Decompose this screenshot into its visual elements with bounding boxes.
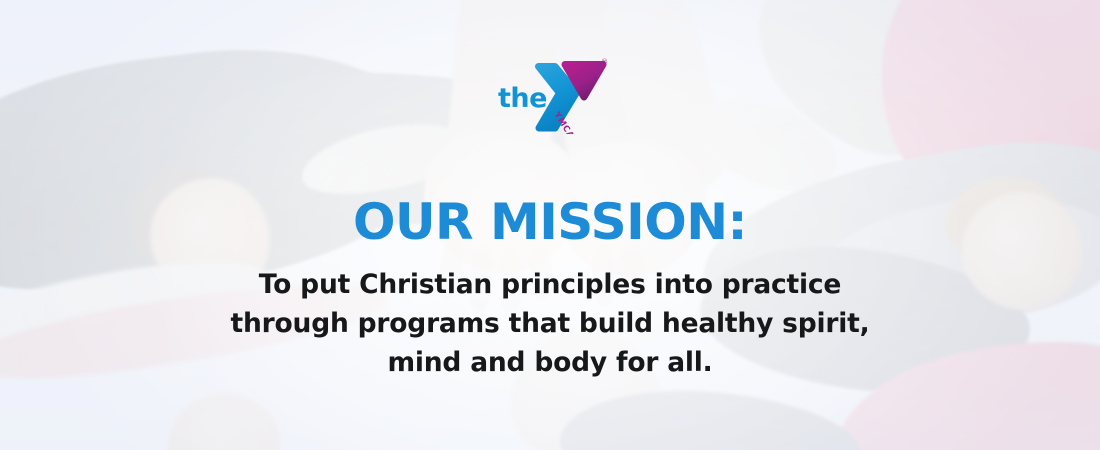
mission-body: To put Christian principles into practic…: [0, 265, 1100, 383]
logo-wordmark-the: the: [498, 83, 547, 114]
the-y-ymca-logo: the YMCA ®: [497, 52, 609, 134]
mission-body-line-1: To put Christian principles into practic…: [0, 265, 1100, 304]
mission-body-line-2: through programs that build healthy spir…: [0, 304, 1100, 343]
mission-body-line-3: mind and body for all.: [0, 343, 1100, 382]
mission-statement: OUR MISSION: To put Christian principles…: [0, 196, 1100, 383]
mission-title: OUR MISSION:: [0, 196, 1100, 249]
ymca-mission-banner: the YMCA ® OUR MISSION: To put Christian…: [0, 0, 1100, 450]
logo-registered-mark: ®: [601, 58, 608, 66]
